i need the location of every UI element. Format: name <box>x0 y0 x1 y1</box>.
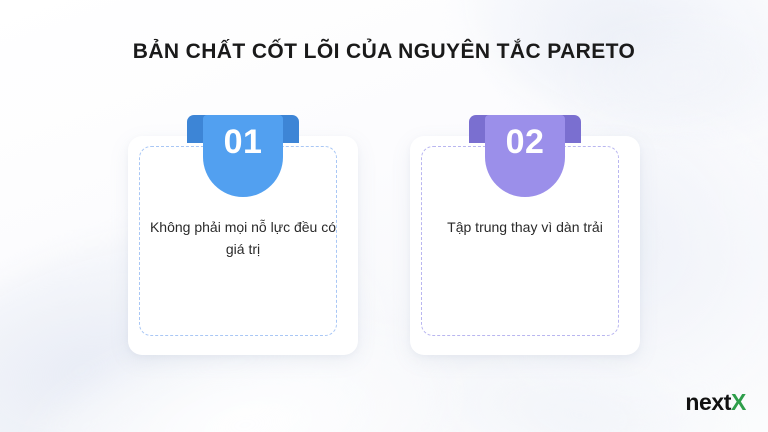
ribbon-body: 01 <box>203 115 283 197</box>
card-item-02: 02 Tập trung thay vì dàn trải <box>410 115 640 355</box>
card-item-01: 01 Không phải mọi nỗ lực đều có giá trị <box>128 115 358 355</box>
slide-canvas: BẢN CHẤT CỐT LÕI CỦA NGUYÊN TẮC PARETO 0… <box>0 0 768 432</box>
card-description: Tập trung thay vì dàn trải <box>426 217 624 239</box>
card-ribbon-badge: 02 <box>469 115 581 197</box>
card-description: Không phải mọi nỗ lực đều có giá trị <box>144 217 342 260</box>
slide-title: BẢN CHẤT CỐT LÕI CỦA NGUYÊN TẮC PARETO <box>0 40 768 64</box>
brand-logo: nextX <box>685 389 746 416</box>
card-list: 01 Không phải mọi nỗ lực đều có giá trị … <box>0 115 768 355</box>
card-number: 01 <box>224 125 263 159</box>
card-ribbon-badge: 01 <box>187 115 299 197</box>
card-number: 02 <box>506 125 545 159</box>
logo-text-accent: X <box>731 389 746 415</box>
ribbon-body: 02 <box>485 115 565 197</box>
logo-text-primary: next <box>685 389 731 415</box>
